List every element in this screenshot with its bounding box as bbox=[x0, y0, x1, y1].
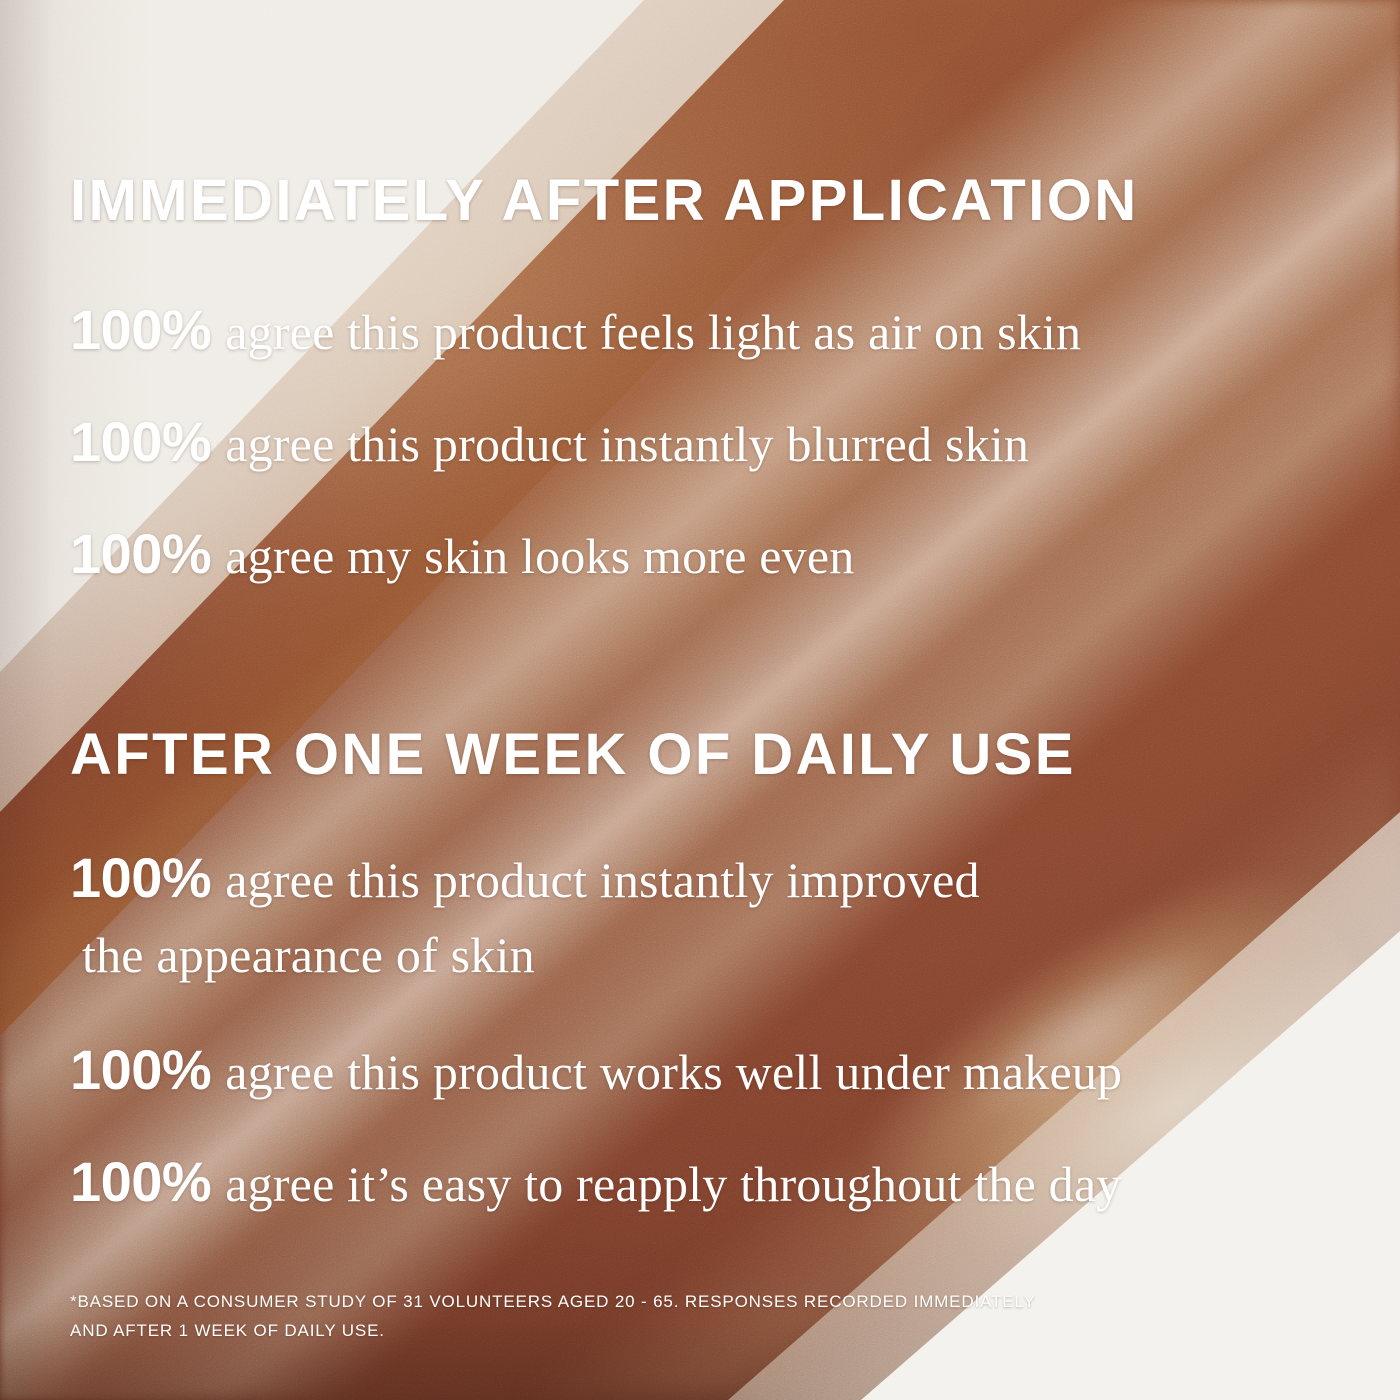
footnote-line-1: *BASED ON A CONSUMER STUDY OF 31 VOLUNTE… bbox=[70, 1287, 1036, 1316]
claim-row: 100%agree my skin looks more even bbox=[70, 521, 854, 586]
claim-row: 100%agree this product feels light as ai… bbox=[70, 297, 1081, 362]
section-heading-immediately-after-application: IMMEDIATELY AFTER APPLICATION bbox=[70, 172, 1139, 230]
claim-percent: 100% bbox=[70, 846, 211, 909]
claims-content: IMMEDIATELY AFTER APPLICATION 100%agree … bbox=[0, 0, 1400, 1400]
footnote-disclaimer: *BASED ON A CONSUMER STUDY OF 31 VOLUNTE… bbox=[70, 1287, 1036, 1345]
claim-percent: 100% bbox=[70, 298, 211, 361]
claim-text: agree my skin looks more even bbox=[225, 528, 854, 584]
claim-text: agree this product instantly improved bbox=[225, 852, 979, 908]
claim-text: agree this product works well under make… bbox=[225, 1044, 1122, 1100]
claim-percent: 100% bbox=[70, 1150, 211, 1213]
claim-percent: 100% bbox=[70, 410, 211, 473]
claim-text: agree this product feels light as air on… bbox=[225, 304, 1081, 360]
claim-percent: 100% bbox=[70, 1038, 211, 1101]
claim-row: 100%agree this product works well under … bbox=[70, 1037, 1122, 1102]
product-claims-graphic: IMMEDIATELY AFTER APPLICATION 100%agree … bbox=[0, 0, 1400, 1400]
section-heading-after-one-week-of-daily-use: AFTER ONE WEEK OF DAILY USE bbox=[70, 726, 1076, 784]
claim-row: 100%agree this product instantly blurred… bbox=[70, 409, 1029, 474]
footnote-line-2: AND AFTER 1 WEEK OF DAILY USE. bbox=[70, 1316, 1036, 1345]
claim-row: 100%agree it’s easy to reapply throughou… bbox=[70, 1149, 1121, 1214]
claim-text: agree it’s easy to reapply throughout th… bbox=[225, 1156, 1121, 1212]
claim-text-line-2: the appearance of skin bbox=[82, 926, 1250, 984]
claim-row: 100%agree this product instantly improve… bbox=[70, 845, 1250, 984]
claim-percent: 100% bbox=[70, 522, 211, 585]
claim-text: agree this product instantly blurred ski… bbox=[225, 416, 1029, 472]
